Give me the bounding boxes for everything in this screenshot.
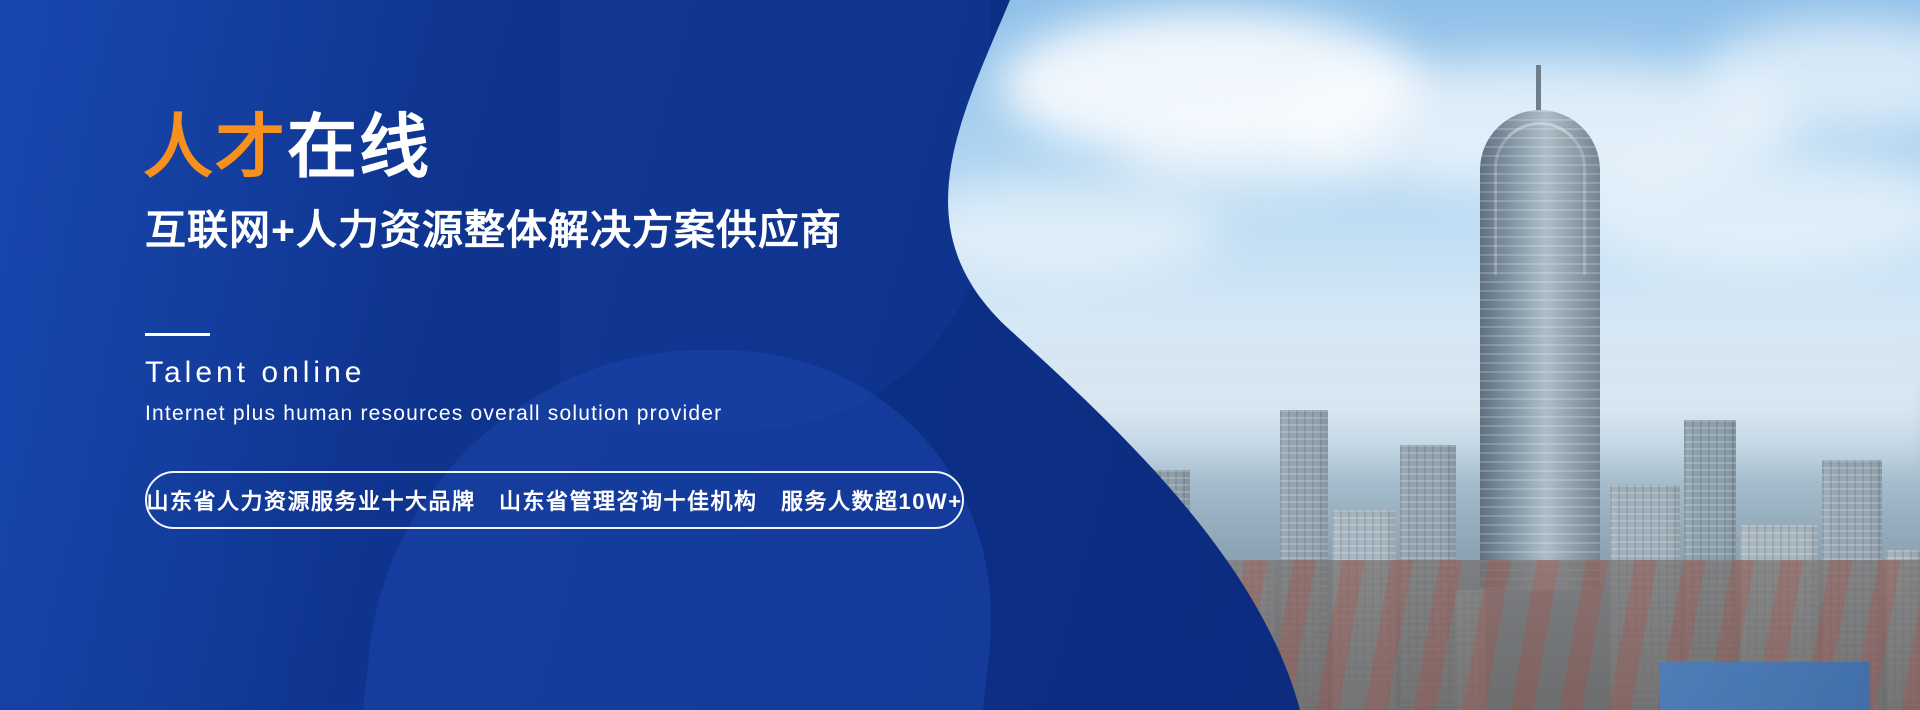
banner-content: 人才在线 互联网+人力资源整体解决方案供应商 Talent online Int…: [143, 0, 1003, 710]
english-headline: Talent online: [145, 356, 365, 390]
banner-subtitle: 互联网+人力资源整体解决方案供应商: [145, 196, 842, 256]
divider-rule: [145, 333, 210, 336]
blue-tarp-roof: [1660, 662, 1870, 710]
cloud-shape: [1120, 120, 1380, 200]
credentials-badge-text: 山东省人力资源服务业十大品牌 山东省管理咨询十佳机构 服务人数超10W+: [146, 484, 962, 516]
title-highlight: 人才: [143, 108, 287, 186]
cloud-shape: [1560, 150, 1920, 270]
banner-title: 人才在线: [143, 112, 431, 182]
landmark-tower: [1480, 110, 1600, 590]
title-rest: 在线: [287, 108, 431, 186]
hero-banner: 人才在线 互联网+人力资源整体解决方案供应商 Talent online Int…: [0, 0, 1920, 710]
credentials-badge: 山东省人力资源服务业十大品牌 山东省管理咨询十佳机构 服务人数超10W+: [145, 471, 964, 529]
english-tagline: Internet plus human resources overall so…: [145, 402, 722, 426]
